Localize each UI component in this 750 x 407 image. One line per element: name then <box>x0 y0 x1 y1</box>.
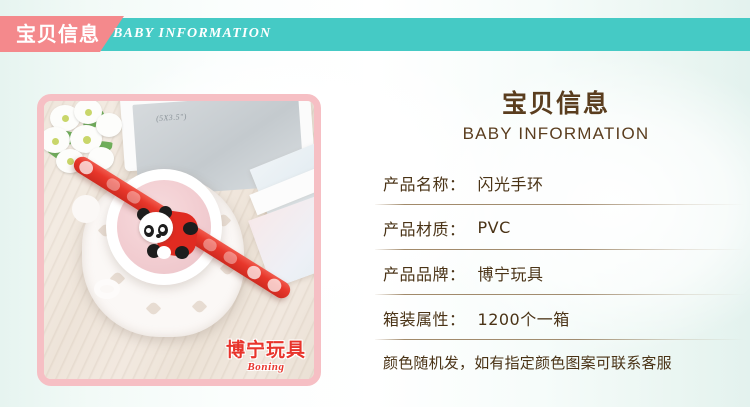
info-note: 颜色随机发，如有指定颜色图案可联系客服 <box>375 352 745 373</box>
info-row-value: 1200个一箱 <box>478 306 570 330</box>
product-info-page: 宝贝信息 BABY INFORMATION (5X3.5") <box>0 0 750 407</box>
brand-watermark: 博宁玩具 Boning <box>226 341 306 373</box>
header-title-cn: 宝贝信息 <box>16 20 100 48</box>
photo-background: (5X3.5") <box>44 101 314 379</box>
info-row: 产品名称： 闪光手环 <box>375 160 745 205</box>
header-title-en: BABY INFORMATION <box>113 24 271 44</box>
panda-head <box>139 212 173 243</box>
info-title-cn: 宝贝信息 <box>367 88 745 120</box>
info-row: 产品品牌： 博宁玩具 <box>375 250 745 295</box>
header-banner: 宝贝信息 BABY INFORMATION <box>0 0 750 56</box>
info-row-value: PVC <box>478 218 511 237</box>
info-title-en: BABY INFORMATION <box>367 122 745 146</box>
product-photo[interactable]: (5X3.5") <box>37 94 321 386</box>
info-row-label: 箱装属性： <box>383 306 466 330</box>
info-row-label: 产品名称： <box>383 171 466 195</box>
info-row-label: 产品材质： <box>383 216 466 240</box>
watermark-cn: 博宁玩具 <box>226 341 306 360</box>
info-row: 箱装属性： 1200个一箱 <box>375 295 745 340</box>
info-row-value: 博宁玩具 <box>478 261 544 285</box>
info-row: 产品材质： PVC <box>375 205 745 250</box>
panda-charm <box>137 206 199 264</box>
cup-handle <box>94 279 120 299</box>
info-row-list: 产品名称： 闪光手环 产品材质： PVC 产品品牌： 博宁玩具 箱装属性： 12… <box>375 160 745 340</box>
info-row-label: 产品品牌： <box>383 261 466 285</box>
info-row-value: 闪光手环 <box>478 171 544 195</box>
info-panel: 宝贝信息 BABY INFORMATION 产品名称： 闪光手环 产品材质： P… <box>375 88 745 388</box>
watermark-en: Boning <box>226 362 306 373</box>
